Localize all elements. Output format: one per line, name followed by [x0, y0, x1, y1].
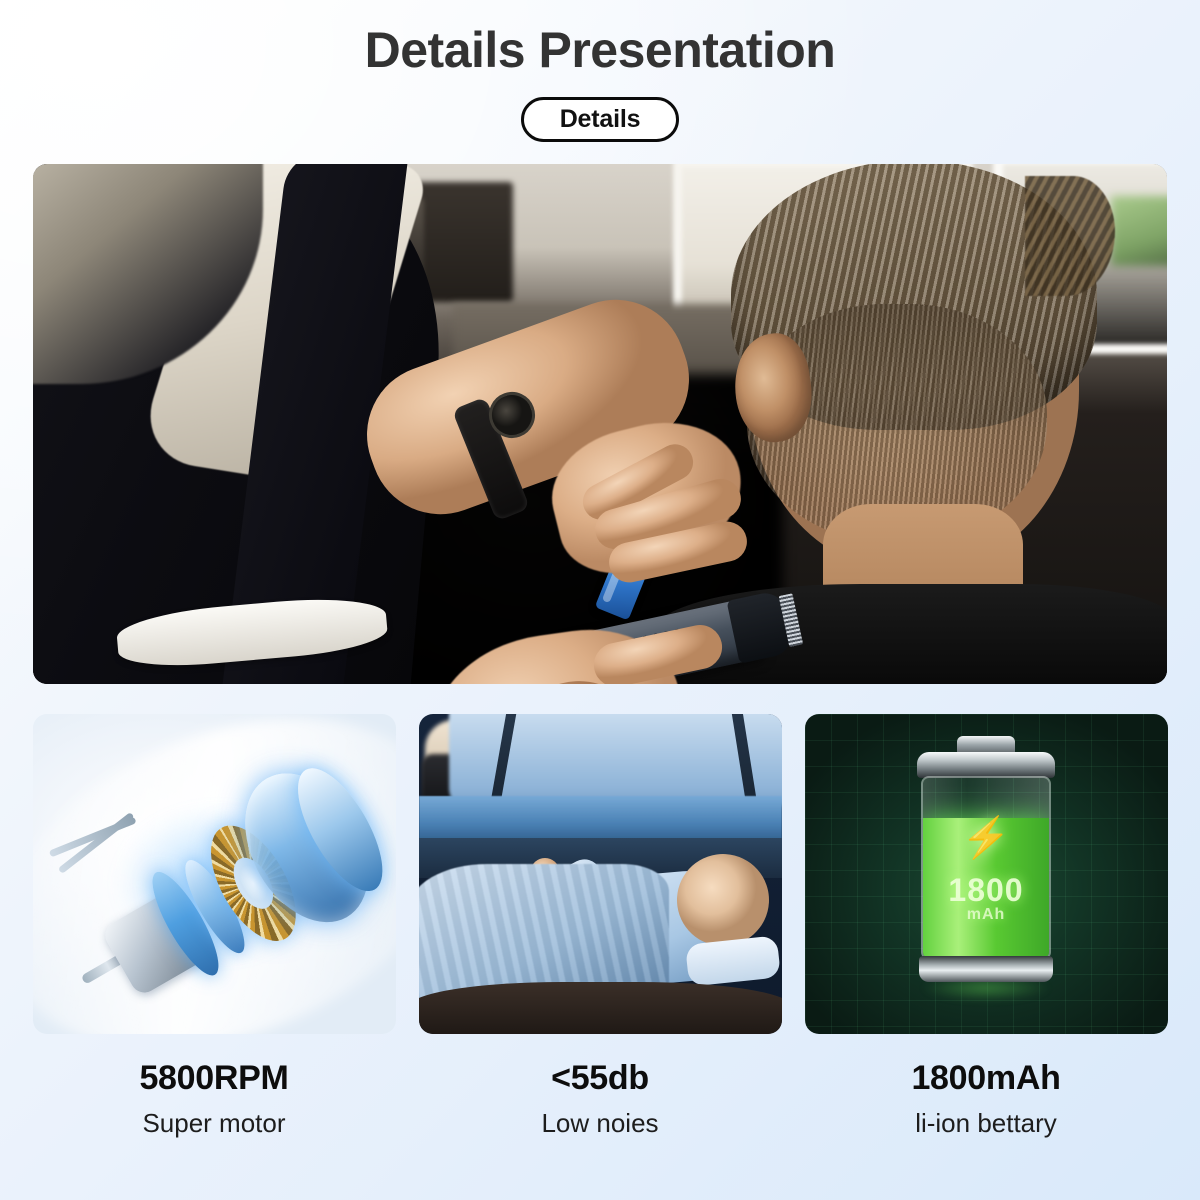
feature-card-battery[interactable]: ⚡ 1800 mAh 1800mAh li-ion bettary: [805, 714, 1168, 1140]
baby-image[interactable]: [419, 714, 782, 1034]
battery-caption: 1800mAh li-ion bettary: [805, 1060, 1168, 1140]
page-header: Details Presentation Details: [0, 0, 1200, 142]
crib-rail: [419, 796, 782, 844]
motor-spec-value: 5800RPM: [33, 1060, 396, 1097]
battery-graphic: ⚡ 1800 mAh: [917, 752, 1055, 982]
battery-capacity-unit: mAh: [923, 906, 1049, 924]
badge-container: Details: [521, 97, 679, 142]
motor-caption: 5800RPM Super motor: [33, 1060, 396, 1140]
crib-front-panel: [419, 982, 782, 1034]
battery-capacity-number: 1800: [923, 872, 1049, 909]
details-badge[interactable]: Details: [521, 97, 679, 142]
page-title: Details Presentation: [365, 22, 836, 80]
battery-image[interactable]: ⚡ 1800 mAh: [805, 714, 1168, 1034]
low-noise-spec-value: <55db: [419, 1060, 782, 1097]
details-presentation-page: Details Presentation Details: [0, 0, 1200, 1200]
motor-image[interactable]: [33, 714, 396, 1034]
hero-scene: [33, 164, 1167, 684]
baby-pillow: [685, 935, 781, 986]
battery-bottom-cap: [919, 956, 1053, 982]
feature-card-motor[interactable]: 5800RPM Super motor: [33, 714, 396, 1140]
low-noise-spec-label: Low noies: [419, 1108, 782, 1139]
battery-spec-value: 1800mAh: [805, 1060, 1168, 1097]
client-head: [713, 174, 1133, 644]
feature-card-low-noise[interactable]: <55db Low noies: [419, 714, 782, 1140]
motor-spec-label: Super motor: [33, 1108, 396, 1139]
feature-card-list: 5800RPM Super motor: [33, 714, 1168, 1140]
lightning-bolt-icon: ⚡: [961, 818, 1011, 858]
low-noise-caption: <55db Low noies: [419, 1060, 782, 1140]
battery-spec-label: li-ion bettary: [805, 1108, 1168, 1139]
battery-top-cap: [917, 752, 1055, 778]
battery-shell: ⚡ 1800 mAh: [921, 776, 1051, 960]
hero-image[interactable]: [33, 164, 1167, 684]
